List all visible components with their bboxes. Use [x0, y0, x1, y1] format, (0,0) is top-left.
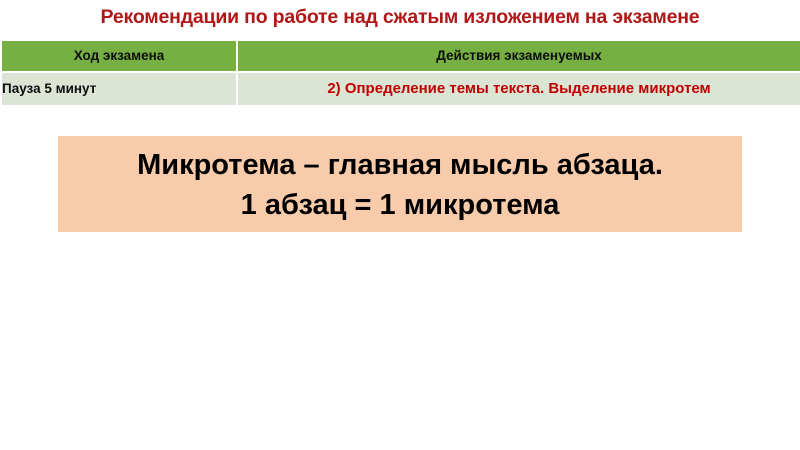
cell-action: 2) Определение темы текста. Выделение ми… [238, 73, 800, 105]
column-header-action: Действия экзаменуемых [238, 41, 800, 71]
table-row: Пауза 5 минут 2) Определение темы текста… [2, 73, 800, 105]
slide-canvas: Рекомендации по работе над сжатым изложе… [0, 0, 800, 450]
table-header-row: Ход экзамена Действия экзаменуемых [2, 41, 800, 71]
exam-procedure-table: Ход экзамена Действия экзаменуемых Пауза… [0, 39, 800, 107]
definition-line-2: 1 абзац = 1 микротема [241, 185, 560, 225]
column-header-stage: Ход экзамена [2, 41, 236, 71]
definition-callout-box: Микротема – главная мысль абзаца. 1 абза… [58, 136, 742, 232]
page-title: Рекомендации по работе над сжатым изложе… [0, 3, 800, 31]
definition-line-1: Микротема – главная мысль абзаца. [137, 145, 663, 185]
cell-stage: Пауза 5 минут [2, 73, 236, 105]
